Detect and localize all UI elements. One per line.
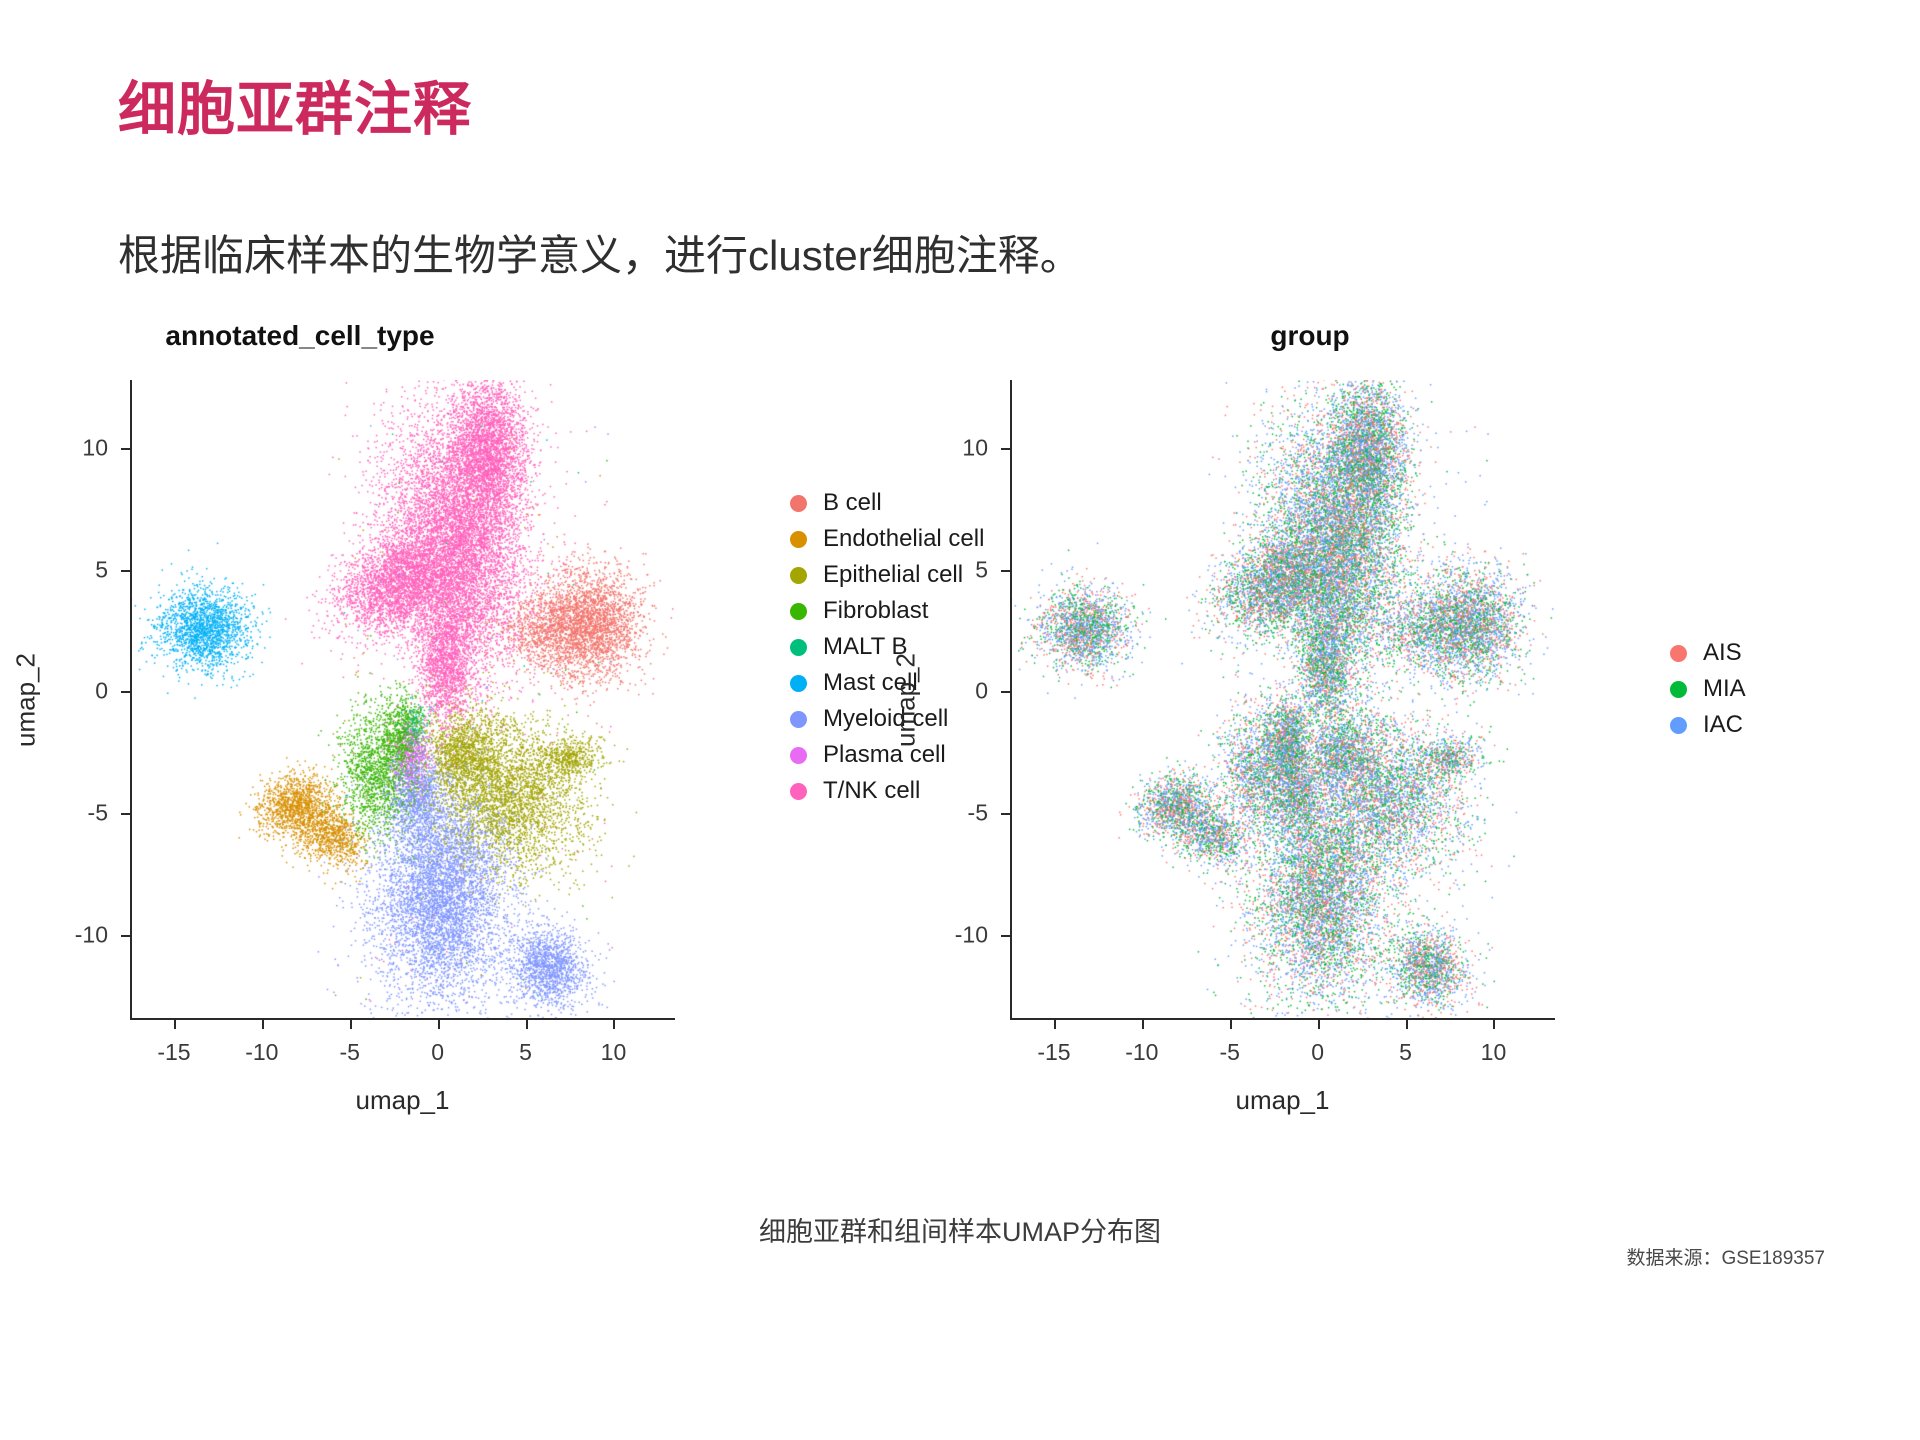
x-tick-label: 0 [431, 1039, 444, 1066]
legend-color-dot-icon [1670, 717, 1687, 734]
x-tick-label: 5 [519, 1039, 532, 1066]
legend-color-dot-icon [790, 603, 807, 620]
legend-label: Endothelial cell [823, 525, 984, 553]
y-axis-line-right [1010, 380, 1012, 1020]
y-tick-mark [121, 935, 130, 937]
legend-group-item[interactable]: MIA [1670, 671, 1746, 707]
y-tick-mark [121, 691, 130, 693]
x-tick-mark [613, 1020, 615, 1029]
umap-panel-cell-type: annotated_cell_type -15-10-505101050-5-1… [30, 340, 950, 1200]
y-tick-mark [121, 813, 130, 815]
legend-color-dot-icon [790, 495, 807, 512]
x-tick-mark [526, 1020, 528, 1029]
legend-color-dot-icon [790, 747, 807, 764]
slide-root: 细胞亚群注释 根据临床样本的生物学意义，进行cluster细胞注释。 annot… [0, 0, 1920, 1440]
legend-cell-type-item[interactable]: T/NK cell [790, 773, 984, 809]
legend-label: Plasma cell [823, 741, 946, 769]
page-title: 细胞亚群注释 [118, 78, 472, 142]
figure-area: annotated_cell_type -15-10-505101050-5-1… [30, 340, 1890, 1200]
y-tick-mark [1001, 935, 1010, 937]
x-tick-label: -5 [340, 1039, 360, 1066]
y-axis-title-left: umap_2 [11, 653, 42, 747]
y-tick-mark [1001, 813, 1010, 815]
x-tick-label: 5 [1399, 1039, 1412, 1066]
x-tick-label: 10 [601, 1039, 627, 1066]
legend-cell-type-item[interactable]: Myeloid cell [790, 701, 984, 737]
legend-group-item[interactable]: IAC [1670, 707, 1746, 743]
x-tick-label: -10 [245, 1039, 278, 1066]
legend-color-dot-icon [790, 783, 807, 800]
scatter-plot-group: -15-10-505101050-5-10 umap_1 umap_2 [1010, 380, 1555, 1020]
legend-group: AISMIAIAC [1670, 635, 1746, 743]
x-tick-mark [262, 1020, 264, 1029]
scatter-canvas-group [1010, 380, 1555, 1020]
legend-label: B cell [823, 489, 882, 517]
legend-group-item[interactable]: AIS [1670, 635, 1746, 671]
legend-cell-type-item[interactable]: Plasma cell [790, 737, 984, 773]
x-tick-mark [1054, 1020, 1056, 1029]
legend-cell-type-item[interactable]: MALT B [790, 629, 984, 665]
y-tick-label: -5 [88, 800, 108, 827]
legend-label: AIS [1703, 639, 1742, 667]
y-tick-label: 0 [95, 678, 108, 705]
y-tick-label: 10 [962, 435, 988, 462]
y-axis-line-left [130, 380, 132, 1020]
legend-color-dot-icon [790, 675, 807, 692]
legend-color-dot-icon [1670, 645, 1687, 662]
legend-cell-type: B cellEndothelial cellEpithelial cellFib… [790, 485, 984, 809]
x-tick-mark [1318, 1020, 1320, 1029]
y-tick-label: 10 [82, 435, 108, 462]
x-tick-mark [1142, 1020, 1144, 1029]
legend-color-dot-icon [790, 531, 807, 548]
x-tick-label: -10 [1125, 1039, 1158, 1066]
legend-label: MIA [1703, 675, 1746, 703]
panel-title-group: group [850, 320, 1770, 352]
panel-title-annotated-cell-type: annotated_cell_type [0, 320, 760, 352]
legend-label: IAC [1703, 711, 1743, 739]
x-tick-label: -5 [1220, 1039, 1240, 1066]
x-axis-title-right: umap_1 [1010, 1085, 1555, 1116]
legend-label: Epithelial cell [823, 561, 963, 589]
x-tick-mark [438, 1020, 440, 1029]
scatter-plot-cell-type: -15-10-505101050-5-10 umap_1 umap_2 [130, 380, 675, 1020]
x-axis-line-left [130, 1018, 675, 1020]
legend-cell-type-item[interactable]: B cell [790, 485, 984, 521]
legend-color-dot-icon [1670, 681, 1687, 698]
y-tick-mark [1001, 448, 1010, 450]
data-source-note: 数据来源：GSE189357 [1626, 1243, 1825, 1270]
legend-color-dot-icon [790, 567, 807, 584]
x-tick-mark [1230, 1020, 1232, 1029]
y-tick-label: 0 [975, 678, 988, 705]
legend-cell-type-item[interactable]: Mast cell [790, 665, 984, 701]
y-tick-mark [1001, 691, 1010, 693]
legend-label: Myeloid cell [823, 705, 948, 733]
page-subtitle: 根据临床样本的生物学意义，进行cluster细胞注释。 [118, 222, 1082, 283]
x-tick-label: 0 [1311, 1039, 1324, 1066]
x-axis-line-right [1010, 1018, 1555, 1020]
x-tick-label: 10 [1481, 1039, 1507, 1066]
y-tick-mark [121, 570, 130, 572]
x-tick-label: -15 [157, 1039, 190, 1066]
legend-cell-type-item[interactable]: Epithelial cell [790, 557, 984, 593]
y-tick-mark [1001, 570, 1010, 572]
x-tick-label: -15 [1037, 1039, 1070, 1066]
legend-label: Fibroblast [823, 597, 928, 625]
x-axis-title-left: umap_1 [130, 1085, 675, 1116]
legend-cell-type-item[interactable]: Endothelial cell [790, 521, 984, 557]
umap-panel-group: group -15-10-505101050-5-10 umap_1 umap_… [970, 340, 1890, 1200]
scatter-canvas-cell-type [130, 380, 675, 1020]
y-tick-mark [121, 448, 130, 450]
y-tick-label: 5 [95, 556, 108, 583]
legend-color-dot-icon [790, 711, 807, 728]
y-tick-label: -10 [75, 921, 108, 948]
legend-label: T/NK cell [823, 777, 920, 805]
legend-cell-type-item[interactable]: Fibroblast [790, 593, 984, 629]
y-axis-title-right: umap_2 [891, 653, 922, 747]
y-tick-label: 5 [975, 556, 988, 583]
x-tick-mark [1493, 1020, 1495, 1029]
x-tick-mark [350, 1020, 352, 1029]
y-tick-label: -10 [955, 921, 988, 948]
x-tick-mark [1406, 1020, 1408, 1029]
legend-color-dot-icon [790, 639, 807, 656]
y-tick-label: -5 [968, 800, 988, 827]
x-tick-mark [174, 1020, 176, 1029]
